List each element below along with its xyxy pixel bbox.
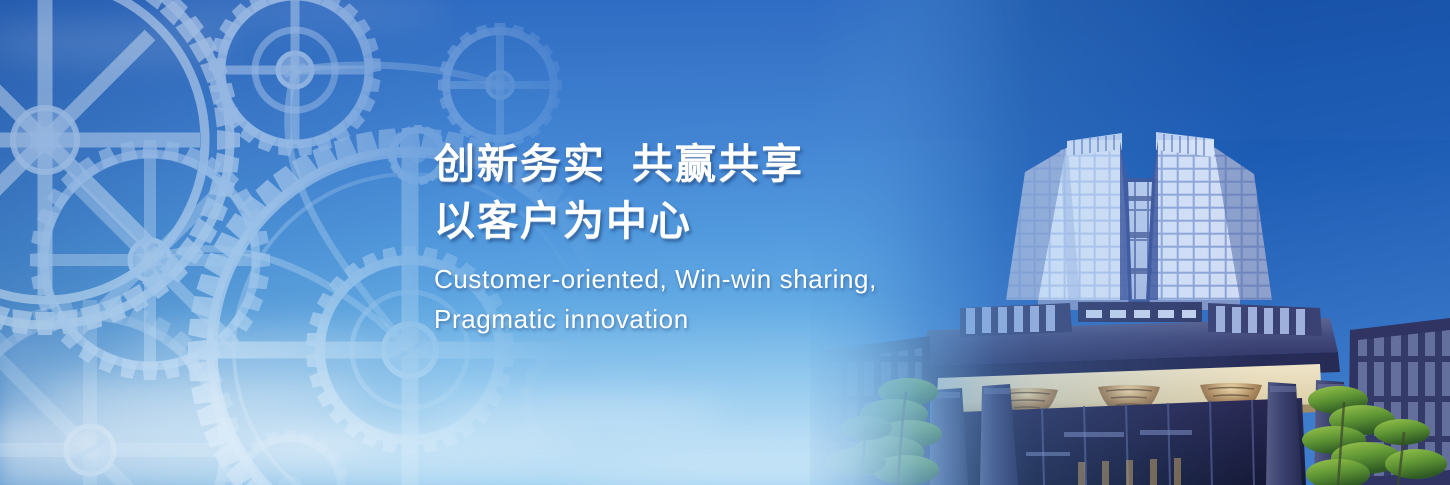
headline-part-2: 共赢共享	[632, 141, 804, 187]
subheadline-line-2: Pragmatic innovation	[434, 299, 954, 339]
subheadline-line-1: Customer-oriented, Win-win sharing,	[434, 259, 954, 299]
headline-line-1: 创新务实共赢共享	[434, 136, 954, 193]
subheadline: Customer-oriented, Win-win sharing, Prag…	[434, 259, 954, 339]
banner-copy: 创新务实共赢共享 以客户为中心 Customer-oriented, Win-w…	[434, 136, 954, 339]
hero-banner: 创新务实共赢共享 以客户为中心 Customer-oriented, Win-w…	[0, 0, 1450, 485]
headline-part-1: 创新务实	[434, 141, 606, 187]
headline-line-2: 以客户为中心	[434, 193, 954, 250]
